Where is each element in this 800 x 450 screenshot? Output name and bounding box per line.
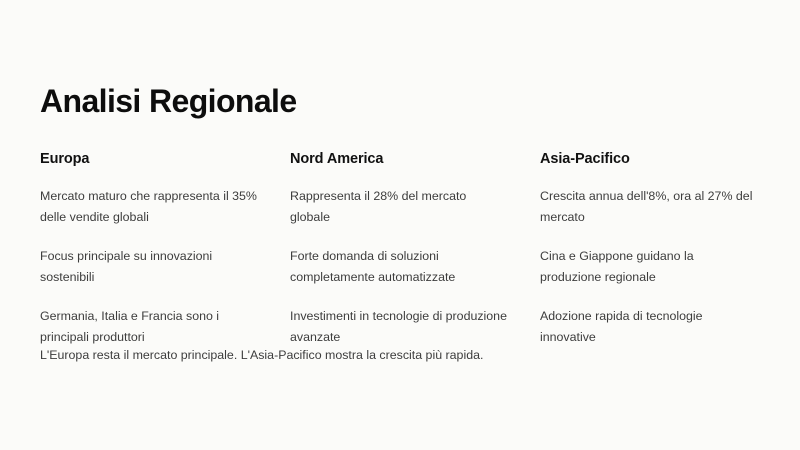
list-item: Mercato maturo che rappresenta il 35% de… — [40, 186, 258, 228]
list-item: Investimenti in tecnologie di produzione… — [290, 306, 508, 348]
list-item: Adozione rapida di tecnologie innovative — [540, 306, 758, 348]
column-heading-nord-america: Nord America — [290, 150, 540, 168]
slide-root: Analisi Regionale Europa Mercato maturo … — [0, 0, 800, 450]
column-points-nord-america: Rappresenta il 28% del mercato globale F… — [290, 186, 540, 348]
list-item: Germania, Italia e Francia sono i princi… — [40, 306, 258, 348]
region-column-nord-america: Nord America Rappresenta il 28% del merc… — [290, 150, 540, 348]
column-heading-europa: Europa — [40, 150, 290, 168]
list-item: Forte domanda di soluzioni completamente… — [290, 246, 508, 288]
list-item: Cina e Giappone guidano la produzione re… — [540, 246, 758, 288]
list-item: Crescita annua dell'8%, ora al 27% del m… — [540, 186, 758, 228]
region-column-europa: Europa Mercato maturo che rappresenta il… — [40, 150, 290, 348]
column-heading-asia-pacifico: Asia-Pacifico — [540, 150, 790, 168]
region-columns: Europa Mercato maturo che rappresenta il… — [40, 150, 760, 348]
column-points-asia-pacifico: Crescita annua dell'8%, ora al 27% del m… — [540, 186, 790, 348]
list-item: Focus principale su innovazioni sostenib… — [40, 246, 258, 288]
column-points-europa: Mercato maturo che rappresenta il 35% de… — [40, 186, 290, 348]
summary-note: L'Europa resta il mercato principale. L'… — [40, 345, 483, 366]
region-column-asia-pacifico: Asia-Pacifico Crescita annua dell'8%, or… — [540, 150, 790, 348]
list-item: Rappresenta il 28% del mercato globale — [290, 186, 508, 228]
page-title: Analisi Regionale — [40, 81, 297, 121]
